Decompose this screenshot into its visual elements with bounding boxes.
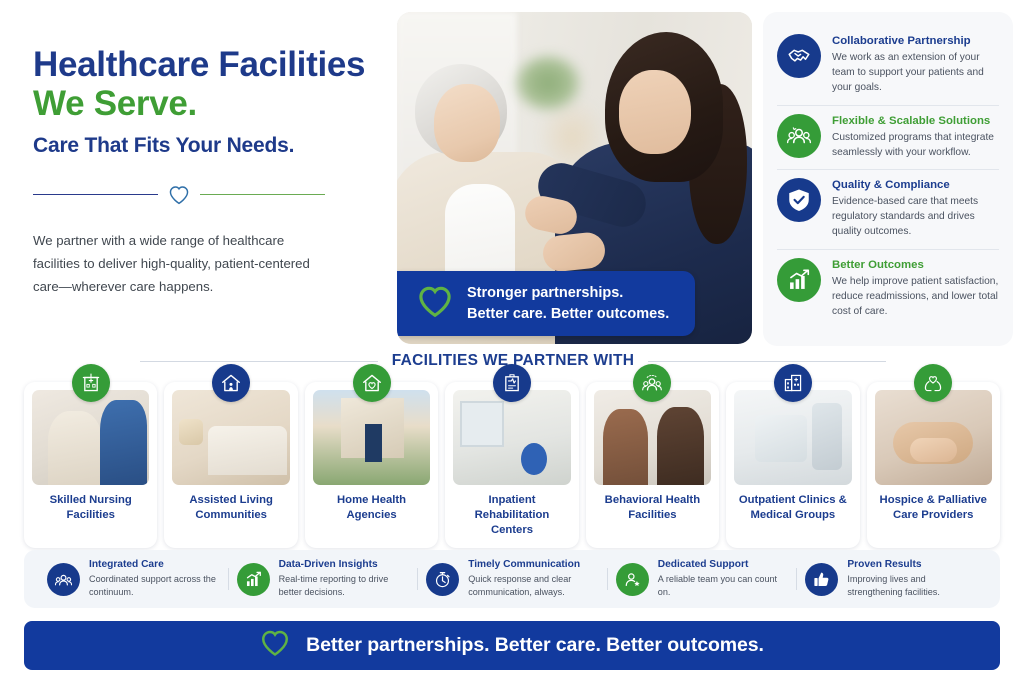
house-heart-icon <box>353 364 391 402</box>
shield-check-icon <box>777 178 821 222</box>
benefit-desc: Improving lives and strengthening facili… <box>847 573 977 599</box>
benefit-desc: Coordinated support across the continuum… <box>89 573 219 599</box>
divider-line-left <box>33 194 158 196</box>
stopwatch-icon <box>426 563 459 596</box>
value-item-desc: Evidence-based care that meets regulator… <box>832 194 999 239</box>
heading-rule-left <box>140 361 378 362</box>
value-item-title: Better Outcomes <box>832 258 999 272</box>
benefit-integrated-care: Integrated Care Coordinated support acro… <box>38 559 228 599</box>
facilities-card-row: Skilled Nursing Facilities Assisted Livi… <box>24 382 1000 548</box>
facility-label: Hospice & Palliative Care Providers <box>875 493 992 523</box>
facility-photo <box>453 390 570 485</box>
divider-line-right <box>200 194 325 196</box>
facility-card-assisted-living[interactable]: Assisted Living Communities <box>164 382 297 548</box>
hero-banner-line2: Better care. Better outcomes. <box>467 304 669 325</box>
benefits-strip: Integrated Care Coordinated support acro… <box>24 550 1000 608</box>
value-item-better-outcomes: Better Outcomes We help improve patient … <box>777 249 999 329</box>
rehab-building-icon <box>493 364 531 402</box>
facility-label: Behavioral Health Facilities <box>594 493 711 523</box>
facility-card-hospice-palliative[interactable]: Hospice & Palliative Care Providers <box>867 382 1000 548</box>
hero-text-block: Healthcare Facilities We Serve. Care Tha… <box>33 45 373 298</box>
hero-banner-line1: Stronger partnerships. <box>467 283 669 304</box>
hero-photo: Stronger partnerships. Better care. Bett… <box>397 12 752 344</box>
page-title-line1: Healthcare Facilities <box>33 45 373 84</box>
facility-photo <box>313 390 430 485</box>
benefit-title: Proven Results <box>847 559 977 572</box>
benefit-desc: Quick response and clear communication, … <box>468 573 598 599</box>
facility-label: Inpatient Rehabilitation Centers <box>453 493 570 538</box>
facility-card-skilled-nursing[interactable]: Skilled Nursing Facilities <box>24 382 157 548</box>
facility-photo <box>734 390 851 485</box>
heart-divider <box>33 185 325 205</box>
value-item-quality-compliance: Quality & Compliance Evidence-based care… <box>777 169 999 249</box>
people-group-icon <box>777 114 821 158</box>
benefit-title: Data-Driven Insights <box>279 559 409 572</box>
facility-label: Skilled Nursing Facilities <box>32 493 149 523</box>
benefit-timely-communication: Timely Communication Quick response and … <box>417 559 607 599</box>
facility-card-behavioral-health[interactable]: Behavioral Health Facilities <box>586 382 719 548</box>
benefit-title: Timely Communication <box>468 559 598 572</box>
benefit-proven-results: Proven Results Improving lives and stren… <box>796 559 986 599</box>
value-propositions-card: Collaborative Partnership We work as an … <box>763 12 1013 346</box>
bar-chart-arrow-up-icon <box>237 563 270 596</box>
hero-paragraph: We partner with a wide range of healthca… <box>33 229 333 298</box>
heart-outline-icon <box>417 285 453 323</box>
facility-card-inpatient-rehab[interactable]: Inpatient Rehabilitation Centers <box>445 382 578 548</box>
house-icon <box>212 364 250 402</box>
benefit-title: Dedicated Support <box>658 559 788 572</box>
value-item-desc: We help improve patient satisfaction, re… <box>832 274 999 319</box>
benefit-title: Integrated Care <box>89 559 219 572</box>
facility-label: Outpatient Clinics & Medical Groups <box>734 493 851 523</box>
people-group-icon <box>47 563 80 596</box>
facility-label: Assisted Living Communities <box>172 493 289 523</box>
value-item-title: Flexible & Scalable Solutions <box>832 114 999 128</box>
facility-card-outpatient-clinics[interactable]: Outpatient Clinics & Medical Groups <box>726 382 859 548</box>
facility-photo <box>172 390 289 485</box>
facility-photo <box>594 390 711 485</box>
facility-photo <box>32 390 149 485</box>
hero-banner-text: Stronger partnerships. Better care. Bett… <box>467 283 669 324</box>
thumbs-up-icon <box>805 563 838 596</box>
heart-outline-icon <box>260 629 290 662</box>
person-star-icon <box>616 563 649 596</box>
bottom-banner-text: Better partnerships. Better care. Better… <box>306 634 764 657</box>
value-item-title: Quality & Compliance <box>832 178 999 192</box>
page-title-line2: We Serve. <box>33 84 373 123</box>
hero-tagline-banner: Stronger partnerships. Better care. Bett… <box>397 271 695 336</box>
value-item-desc: We work as an extension of your team to … <box>832 50 999 95</box>
bottom-tagline-banner: Better partnerships. Better care. Better… <box>24 621 1000 670</box>
value-item-flexible-scalable-solutions: Flexible & Scalable Solutions Customized… <box>777 105 999 169</box>
people-group-icon <box>633 364 671 402</box>
infographic-page: Healthcare Facilities We Serve. Care Tha… <box>0 0 1024 683</box>
heart-outline-icon <box>168 185 190 205</box>
value-item-collaborative-partnership: Collaborative Partnership We work as an … <box>777 26 999 105</box>
facility-card-home-health[interactable]: Home Health Agencies <box>305 382 438 548</box>
value-item-title: Collaborative Partnership <box>832 34 999 48</box>
hospital-building-icon <box>72 364 110 402</box>
heading-rule-right <box>648 361 886 362</box>
benefit-desc: Real-time reporting to drive better deci… <box>279 573 409 599</box>
facility-photo <box>875 390 992 485</box>
facility-label: Home Health Agencies <box>313 493 430 523</box>
bar-chart-arrow-up-icon <box>777 258 821 302</box>
benefit-dedicated-support: Dedicated Support A reliable team you ca… <box>607 559 797 599</box>
hands-heart-icon <box>914 364 952 402</box>
page-subtitle: Care That Fits Your Needs. <box>33 132 373 159</box>
value-item-desc: Customized programs that integrate seaml… <box>832 130 999 160</box>
benefit-desc: A reliable team you can count on. <box>658 573 788 599</box>
handshake-icon <box>777 34 821 78</box>
benefit-data-driven-insights: Data-Driven Insights Real-time reporting… <box>228 559 418 599</box>
clinic-building-icon <box>774 364 812 402</box>
